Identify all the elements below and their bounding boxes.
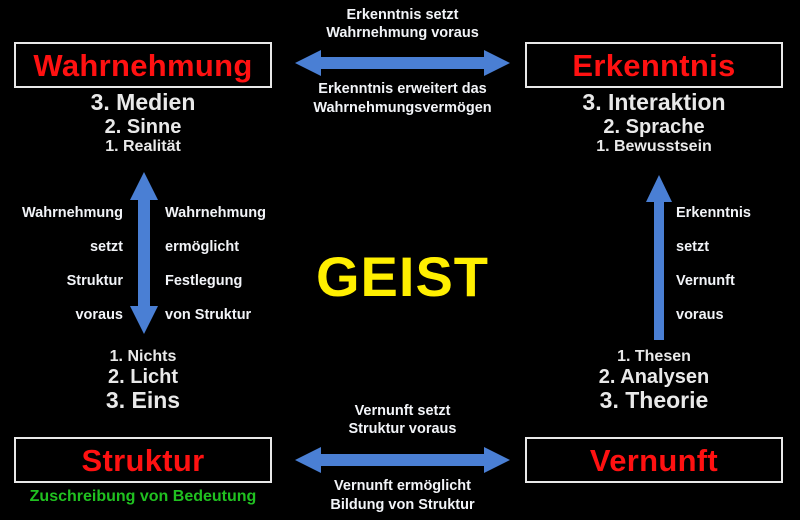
right-arrow-label-2: setzt [676,240,786,255]
concept-title-wahrnehmung: Wahrnehmung [33,50,252,81]
concept-title-struktur: Struktur [82,445,205,476]
concept-box-erkenntnis[interactable]: Erkenntnis [525,42,783,88]
level-stack-erkenntnis: 3. Interaktion 2. Sprache 1. Bewusstsein [525,90,783,156]
concept-box-wahrnehmung[interactable]: Wahrnehmung [14,42,272,88]
concept-box-struktur[interactable]: Struktur [14,437,272,483]
level-item-1: 1. Nichts [110,348,177,366]
left-arrow-label-left-2: setzt [8,240,123,255]
bottom-arrow-label-above-line2: Struktur voraus [295,420,510,438]
left-arrow-label-right-2: ermöglicht [165,240,290,255]
bottom-arrow-label-below-line2: Bildung von Struktur [290,496,515,514]
level-stack-vernunft: 1. Thesen 2. Analysen 3. Theorie [525,348,783,414]
top-arrow-label-above-line2: Wahrnehmung voraus [290,24,515,42]
top-horizontal-double-arrow [295,48,510,78]
bottom-arrow-label-below-line1: Vernunft ermöglicht [290,477,515,495]
right-arrow-label-4: voraus [676,308,786,323]
center-word-geist: GEIST [290,249,515,305]
level-item-3: 3. Eins [106,388,180,414]
left-vertical-double-arrow [128,172,160,334]
level-item-2: 2. Licht [108,366,178,388]
top-arrow-label-below-line1: Erkenntnis erweitert das [290,80,515,98]
left-arrow-label-right-1: Wahrnehmung [165,206,290,221]
level-item-1: 1. Realität [105,138,181,156]
concept-box-vernunft[interactable]: Vernunft [525,437,783,483]
level-item-1: 1. Bewusstsein [596,138,712,156]
level-item-3: 3. Interaktion [582,90,725,116]
left-arrow-label-right-3: Festlegung [165,274,290,289]
left-arrow-label-left-3: Struktur [8,274,123,289]
left-arrow-label-left-1: Wahrnehmung [8,206,123,221]
level-item-2: 2. Analysen [599,366,709,388]
bottom-arrow-label-above-line1: Vernunft setzt [295,402,510,420]
right-arrow-label-3: Vernunft [676,274,786,289]
concept-title-vernunft: Vernunft [590,445,718,476]
top-arrow-label-below-line2: Wahrnehmungsvermögen [290,99,515,117]
top-arrow-label-above-line1: Erkenntnis setzt [300,6,505,24]
left-arrow-label-left-4: voraus [8,308,123,323]
left-arrow-label-right-4: von Struktur [165,308,290,323]
level-item-3: 3. Theorie [600,388,709,414]
bottom-horizontal-double-arrow [295,445,510,475]
level-item-2: 2. Sinne [105,116,182,138]
right-arrow-label-1: Erkenntnis [676,206,786,221]
level-stack-wahrnehmung: 3. Medien 2. Sinne 1. Realität [14,90,272,156]
struktur-caption: Zuschreibung von Bedeutung [14,489,272,505]
level-item-1: 1. Thesen [617,348,691,366]
concept-title-erkenntnis: Erkenntnis [572,50,735,81]
right-vertical-up-arrow [645,175,673,340]
level-stack-struktur: 1. Nichts 2. Licht 3. Eins [14,348,272,414]
level-item-2: 2. Sprache [603,116,704,138]
diagram-canvas: Wahrnehmung Erkenntnis Struktur Vernunft… [0,0,800,520]
level-item-3: 3. Medien [91,90,196,116]
